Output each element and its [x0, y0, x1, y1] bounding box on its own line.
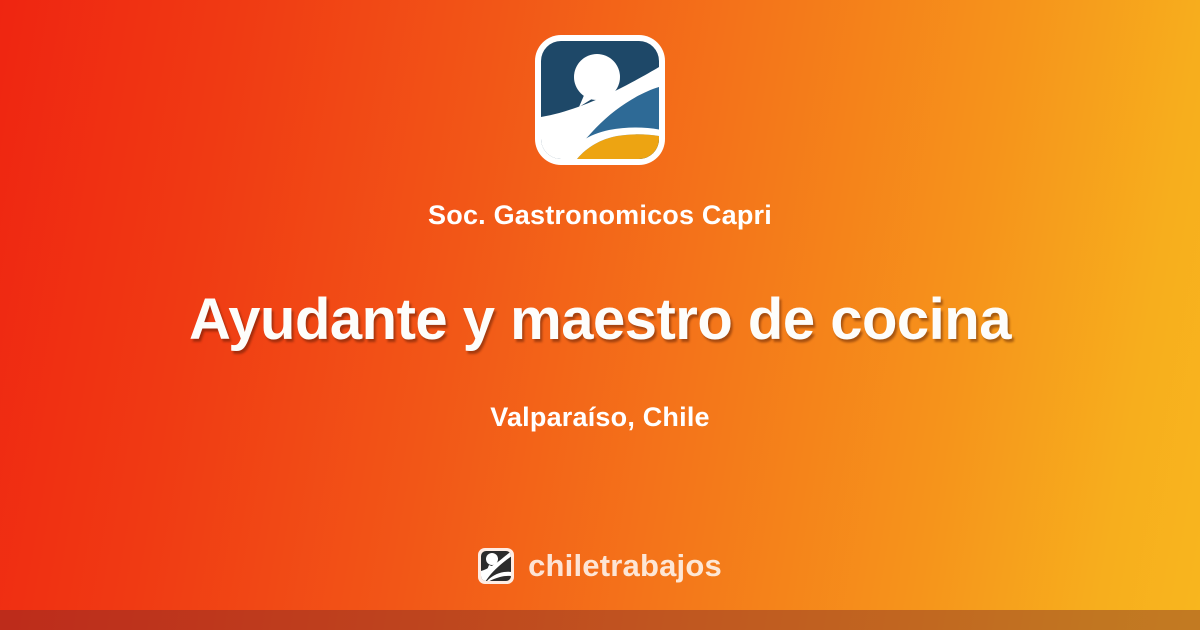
site-branding: chiletrabajos — [0, 548, 1200, 584]
job-share-card: Soc. Gastronomicos Capri Ayudante y maes… — [0, 0, 1200, 630]
chiletrabajos-mark-icon — [478, 548, 514, 584]
company-name: Soc. Gastronomicos Capri — [0, 198, 1200, 232]
bottom-bar — [0, 610, 1200, 630]
job-title: Ayudante y maestro de cocina — [60, 285, 1140, 355]
job-location: Valparaíso, Chile — [0, 398, 1200, 436]
chiletrabajos-logo-icon — [535, 35, 665, 165]
brand-name: chiletrabajos — [528, 548, 722, 584]
company-logo — [535, 35, 665, 165]
